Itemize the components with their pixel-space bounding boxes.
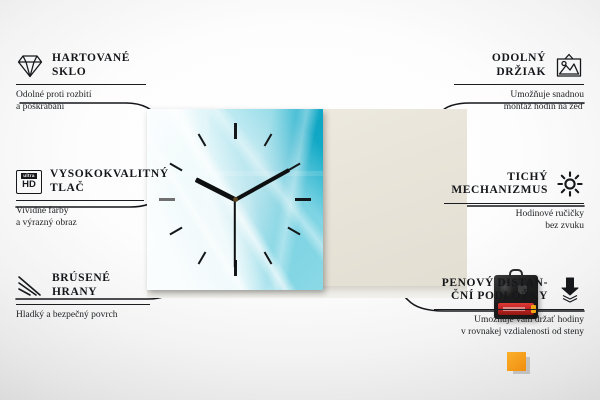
feature-rule — [444, 203, 584, 204]
feature-desc: Umožňuje vám držať hodiny v rovnakej vzd… — [404, 314, 584, 338]
bevelled-edges-icon — [16, 274, 44, 298]
feature-title: TICHÝ MECHANIZMUS — [451, 171, 548, 198]
feature-rule — [434, 309, 584, 310]
clock-second-hand — [234, 199, 236, 267]
feature-desc: Vividné farby a výrazný obraz — [16, 205, 181, 229]
clock-tick-3 — [295, 198, 311, 201]
feature-title: ODOLNÝ DRŽIAK — [492, 52, 546, 79]
clock-tick-12 — [234, 123, 237, 139]
feature-foam-pads: PENOVÝ DISTAN- ČNÍ PODLOŽKY Umožňuje vám… — [404, 276, 584, 338]
feature-rule — [454, 84, 584, 85]
feature-title: HARTOVANÉ SKLO — [52, 52, 130, 79]
feature-silent-mechanism: TICHÝ MECHANIZMUS Hodinové ručičky bez z… — [414, 170, 584, 232]
gear-icon — [556, 170, 584, 198]
product-infographic: HARTOVANÉ SKLO Odolné proti rozbití a po… — [0, 0, 600, 400]
clock-centre-cap — [233, 197, 238, 202]
feature-desc: Umožňuje snadnou montáž hodin na zeď — [424, 89, 584, 113]
ultra-hd-icon-main: HD — [22, 180, 36, 190]
ultra-hd-icon: ultra HD — [16, 170, 42, 194]
diamond-icon — [16, 53, 44, 79]
foam-distance-pad — [507, 352, 526, 371]
feature-rule — [16, 84, 146, 85]
feature-rule — [16, 304, 150, 305]
feature-high-quality-print: ultra HD VYSOKOKVALITNÝ TLAČ Vividné far… — [16, 168, 181, 229]
feature-durable-hanger: ODOLNÝ DRŽIAK Umožňuje snadnou montáž ho… — [424, 52, 584, 113]
feature-title: PENOVÝ DISTAN- ČNÍ PODLOŽKY — [442, 277, 548, 304]
feature-title: BRÚSENÉ HRANY — [52, 272, 111, 299]
feature-bevelled-edges: BRÚSENÉ HRANY Hladký a bezpečný povrch — [16, 272, 186, 321]
feature-desc: Hladký a bezpečný povrch — [16, 309, 186, 321]
feature-desc: Odolné proti rozbití a poškrábání — [16, 89, 176, 113]
picture-frame-hanger-icon — [554, 53, 584, 79]
feature-desc: Hodinové ručičky bez zvuku — [414, 208, 584, 232]
down-arrow-stack-icon — [556, 276, 584, 304]
feature-rule — [16, 200, 144, 201]
feature-title: VYSOKOKVALITNÝ TLAČ — [50, 168, 169, 195]
feature-hardened-glass: HARTOVANÉ SKLO Odolné proti rozbití a po… — [16, 52, 176, 113]
